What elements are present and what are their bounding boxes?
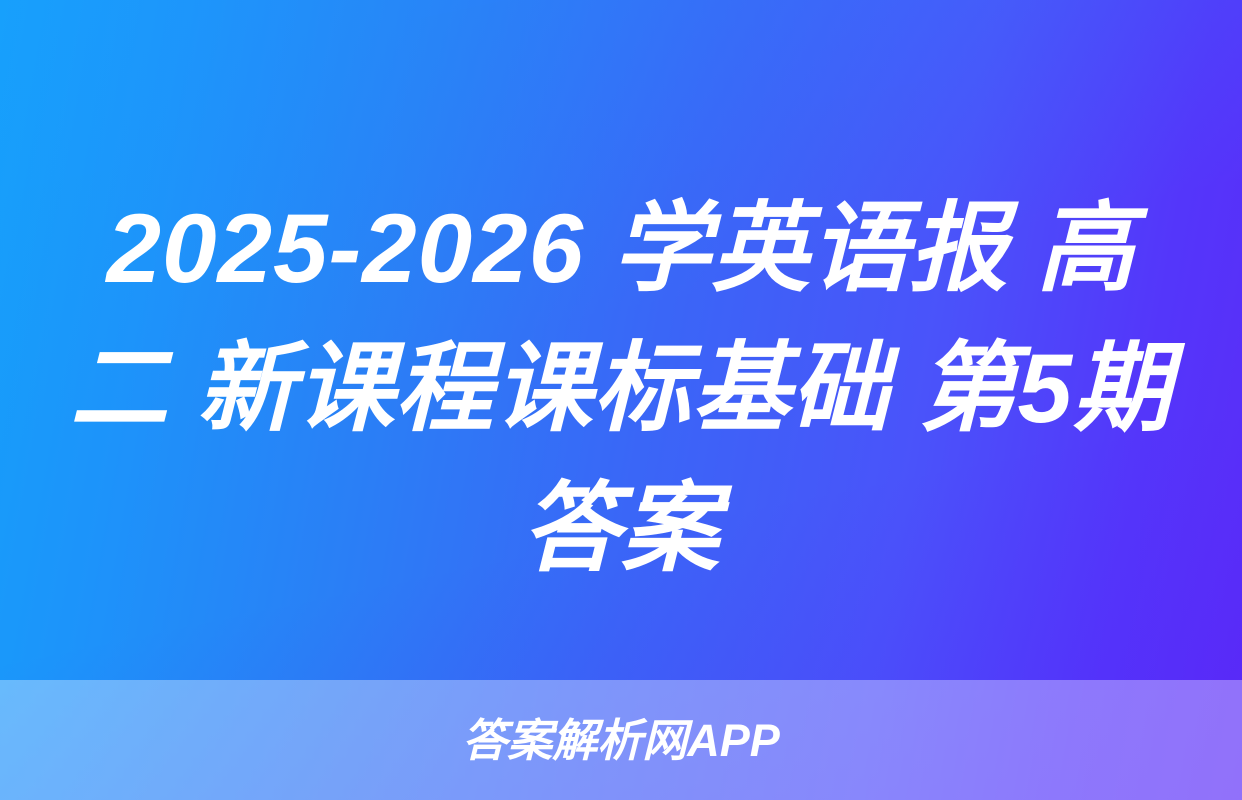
title-block: 2025-2026 学英语报 高二 新课程课标基础 第5期答案 xyxy=(0,178,1242,628)
watermark-label: 答案解析网APP xyxy=(462,718,780,763)
poster-canvas: 2025-2026 学英语报 高二 新课程课标基础 第5期答案 答案解析网APP xyxy=(0,0,1242,800)
watermark-band: 答案解析网APP xyxy=(0,680,1242,800)
page-title: 2025-2026 学英语报 高二 新课程课标基础 第5期答案 xyxy=(58,178,1184,598)
